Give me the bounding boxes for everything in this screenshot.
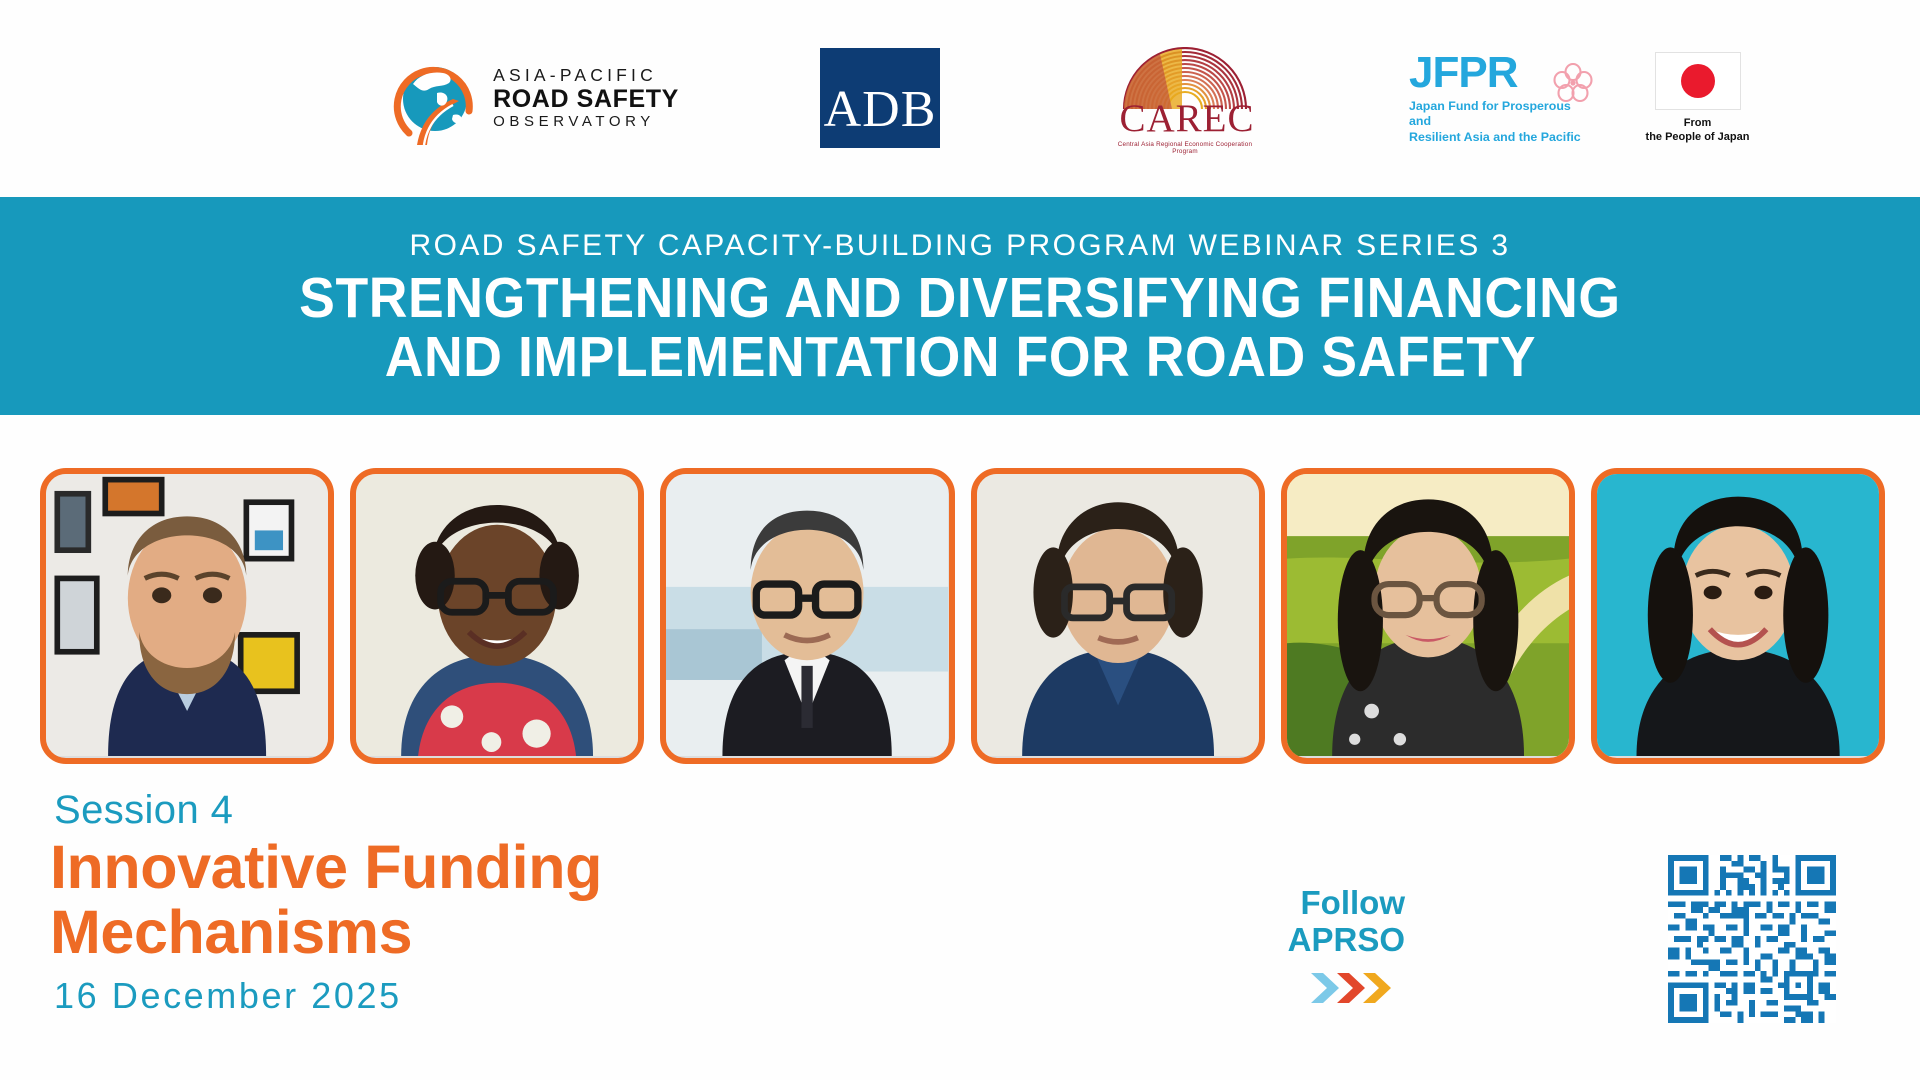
japan-flag-red-disc: [1681, 64, 1715, 98]
session-title-line-1: Innovative Funding: [50, 835, 810, 900]
japan-flag-icon: [1655, 52, 1741, 110]
session-date: 16 December 2025: [54, 975, 402, 1017]
speaker-tile: [660, 468, 954, 764]
banner-title-line-2: AND IMPLEMENTATION FOR ROAD SAFETY: [384, 328, 1535, 387]
speaker-tile: [1281, 468, 1575, 764]
jfpr-logo: JFPR Japan Fund for Prosperous and Resil…: [1405, 43, 1595, 153]
aprso-line-3: OBSERVATORY: [493, 114, 679, 129]
adb-logo: ADB: [820, 48, 940, 148]
webinar-banner: ROAD SAFETY CAPACITY-BUILDING PROGRAM WE…: [0, 197, 1920, 415]
speaker-photo: [666, 474, 948, 756]
speaker-photo: [977, 474, 1259, 756]
aprso-globe-road-icon: [391, 49, 483, 147]
session-title-line-2: Mechanisms: [50, 900, 810, 965]
session-label: Session 4: [54, 788, 233, 833]
japan-caption-line-1: From: [1646, 117, 1750, 130]
japan-caption-line-2: the People of Japan: [1646, 131, 1750, 144]
banner-title-line-1: STRENGTHENING AND DIVERSIFYING FINANCING: [299, 269, 1620, 328]
japan-caption: From the People of Japan: [1646, 117, 1750, 144]
follow-aprso-block: Follow APRSO: [1215, 885, 1405, 1005]
speaker-photo: [356, 474, 638, 756]
speaker-tile: [1591, 468, 1885, 764]
cherry-blossom-icon: [1553, 63, 1593, 107]
speaker-photo: [1597, 474, 1879, 756]
speaker-photo: [46, 474, 328, 756]
qr-code[interactable]: [1668, 855, 1836, 1023]
speaker-photo: [1287, 474, 1569, 756]
jfpr-subtitle-line-2: Resilient Asia and the Pacific: [1405, 130, 1595, 145]
speaker-tile: [971, 468, 1265, 764]
aprso-line-2: ROAD SAFETY: [493, 87, 679, 112]
aprso-line-1: ASIA-PACIFIC: [493, 67, 679, 85]
follow-label-line-1: Follow: [1301, 885, 1405, 922]
session-title: Innovative Funding Mechanisms: [50, 835, 810, 964]
speaker-tile: [350, 468, 644, 764]
speaker-photo-row: [40, 468, 1885, 764]
logo-strip: ASIA-PACIFIC ROAD SAFETY OBSERVATORY ADB: [0, 0, 1920, 196]
carec-subtitle: Central Asia Regional Economic Cooperati…: [1110, 141, 1260, 155]
follow-label-line-2: APRSO: [1288, 922, 1405, 959]
adb-logo-text: ADB: [824, 84, 937, 148]
speaker-tile: [40, 468, 334, 764]
chevron-arrows-icon: [1309, 971, 1399, 1005]
aprso-logo: ASIA-PACIFIC ROAD SAFETY OBSERVATORY: [380, 38, 690, 158]
carec-logo: CAREC Central Asia Regional Economic Coo…: [1110, 43, 1260, 153]
carec-logo-text: CAREC: [1114, 99, 1260, 138]
banner-kicker: ROAD SAFETY CAPACITY-BUILDING PROGRAM WE…: [410, 229, 1511, 263]
japan-flag-logo: From the People of Japan: [1640, 43, 1755, 153]
